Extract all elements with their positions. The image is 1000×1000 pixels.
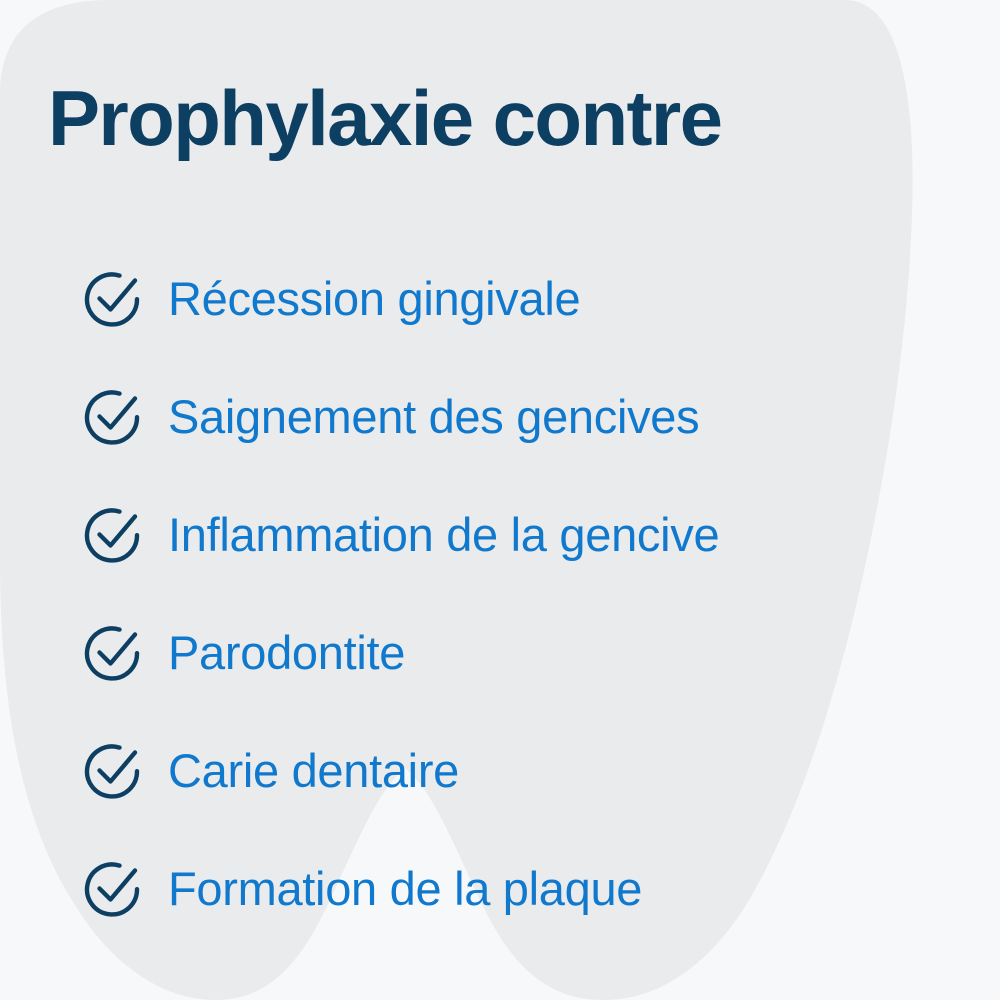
list-item: Saignement des gencives	[82, 358, 982, 476]
check-circle-icon	[82, 623, 142, 683]
check-circle-icon	[82, 741, 142, 801]
list-item-label: Récession gingivale	[168, 271, 580, 327]
poster-canvas: Prophylaxie contre Récession gingivale S…	[0, 0, 1000, 1000]
check-circle-icon	[82, 269, 142, 329]
list-item: Récession gingivale	[82, 240, 982, 358]
benefit-list: Récession gingivale Saignement des genci…	[82, 240, 982, 948]
list-item-label: Inflammation de la gencive	[168, 507, 719, 563]
check-circle-icon	[82, 859, 142, 919]
list-item: Parodontite	[82, 594, 982, 712]
page-title: Prophylaxie contre	[48, 76, 721, 160]
list-item: Formation de la plaque	[82, 830, 982, 948]
list-item-label: Parodontite	[168, 625, 405, 681]
list-item-label: Saignement des gencives	[168, 389, 699, 445]
list-item-label: Formation de la plaque	[168, 861, 642, 917]
check-circle-icon	[82, 505, 142, 565]
list-item-label: Carie dentaire	[168, 743, 459, 799]
check-circle-icon	[82, 387, 142, 447]
list-item: Carie dentaire	[82, 712, 982, 830]
poster-content: Prophylaxie contre Récession gingivale S…	[0, 0, 1000, 1000]
list-item: Inflammation de la gencive	[82, 476, 982, 594]
